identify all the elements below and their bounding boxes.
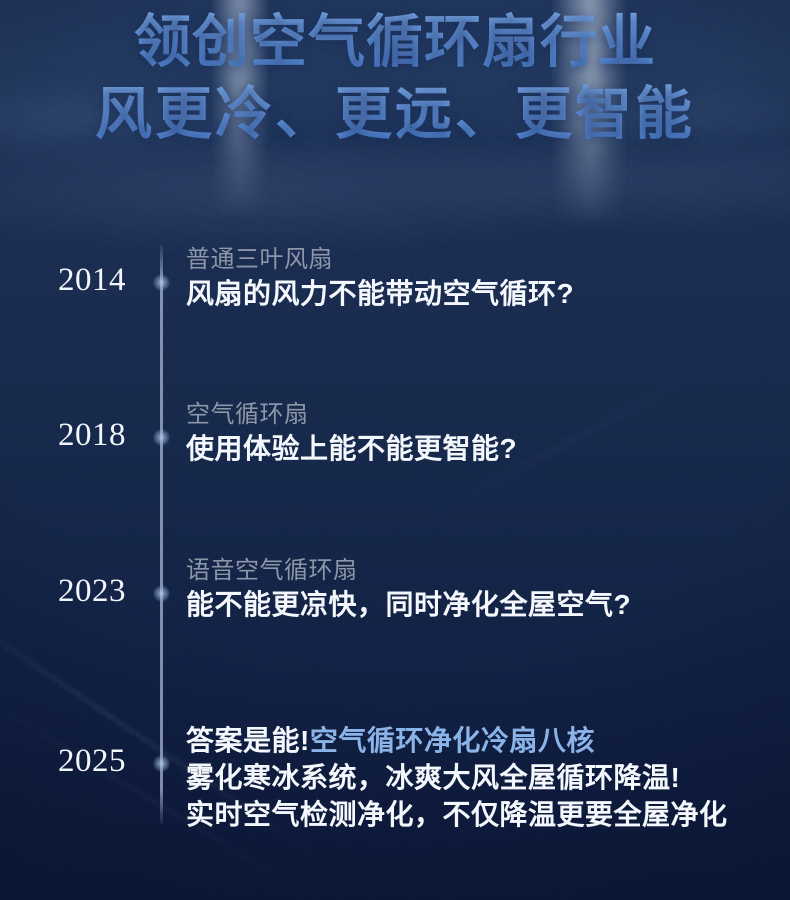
- timeline-entry-main-line: 风扇的风力不能带动空气循环?: [186, 275, 786, 312]
- timeline-year-label: 2023: [0, 573, 140, 609]
- timeline-entry-body: 普通三叶风扇 风扇的风力不能带动空气循环?: [186, 244, 786, 312]
- timeline-dot-marker: [153, 585, 170, 602]
- timeline-entry-body: 空气循环扇 使用体验上能不能更智能?: [186, 399, 786, 467]
- timeline-year-label: 2014: [0, 262, 140, 298]
- timeline-entry-subtitle: 空气循环扇: [186, 399, 786, 430]
- timeline-entry-answer-prefix: 答案是能!: [186, 725, 310, 756]
- timeline-entry-answer-line: 答案是能!空气循环净化冷扇八核: [186, 722, 786, 759]
- timeline-entry-detail-line-2: 实时空气检测净化，不仅降温更要全屋净化: [186, 796, 786, 833]
- timeline-dot-marker: [153, 274, 170, 291]
- timeline-entry-product-highlight: 空气循环净化冷扇八核: [310, 725, 595, 756]
- timeline-dot-marker: [153, 429, 170, 446]
- headline-line-2: 风更冷、更远、更智能: [0, 78, 790, 150]
- timeline-entry-main-line: 使用体验上能不能更智能?: [186, 430, 786, 467]
- timeline-entry-body: 答案是能!空气循环净化冷扇八核 雾化寒冰系统，冰爽大风全屋循环降温! 实时空气检…: [186, 722, 786, 833]
- timeline-entry-2023: 2023 语音空气循环扇 能不能更凉快，同时净化全屋空气?: [0, 543, 790, 583]
- timeline-entry-detail-line-1: 雾化寒冰系统，冰爽大风全屋循环降温!: [186, 759, 786, 796]
- timeline-entry-subtitle: 语音空气循环扇: [186, 555, 786, 586]
- timeline-year-label: 2025: [0, 743, 140, 779]
- timeline-entry-2018: 2018 空气循环扇 使用体验上能不能更智能?: [0, 387, 790, 427]
- timeline-year-label: 2018: [0, 417, 140, 453]
- timeline-entry-subtitle: 普通三叶风扇: [186, 244, 786, 275]
- headline-line-1: 领创空气循环扇行业: [0, 6, 790, 78]
- timeline-entry-main-line: 能不能更凉快，同时净化全屋空气?: [186, 586, 786, 623]
- timeline-entry-body: 语音空气循环扇 能不能更凉快，同时净化全屋空气?: [186, 555, 786, 623]
- timeline-entry-2025: 2025 答案是能!空气循环净化冷扇八核 雾化寒冰系统，冰爽大风全屋循环降温! …: [0, 700, 790, 740]
- timeline-entry-2014: 2014 普通三叶风扇 风扇的风力不能带动空气循环?: [0, 232, 790, 272]
- headline-block: 领创空气循环扇行业 风更冷、更远、更智能: [0, 6, 790, 150]
- promo-banner: 领创空气循环扇行业 风更冷、更远、更智能 2014 普通三叶风扇 风扇的风力不能…: [0, 0, 790, 900]
- timeline-dot-marker: [153, 755, 170, 772]
